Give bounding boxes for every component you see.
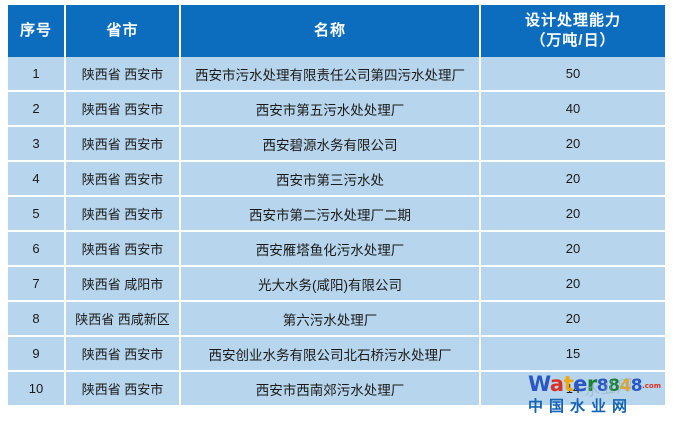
cell-region: 陕西省 西安市 <box>65 57 180 91</box>
cell-capacity: 20 <box>480 266 665 301</box>
cell-index: 6 <box>8 231 65 266</box>
table-header: 序号 省市 名称 设计处理能力 （万吨/日） <box>8 5 665 57</box>
cell-index: 5 <box>8 196 65 231</box>
column-header-capacity-line2: （万吨/日） <box>483 31 663 51</box>
cell-name: 第六污水处理厂 <box>180 301 480 336</box>
cell-index: 9 <box>8 336 65 371</box>
table-row: 8陕西省 西咸新区第六污水处理厂20 <box>8 301 665 336</box>
cell-name: 西安市第二污水处理厂二期 <box>180 196 480 231</box>
column-header-capacity-line1: 设计处理能力 <box>483 11 663 31</box>
cell-region: 陕西省 西安市 <box>65 371 180 405</box>
cell-index: 2 <box>8 91 65 126</box>
cell-region: 陕西省 咸阳市 <box>65 266 180 301</box>
cell-capacity: 20 <box>480 161 665 196</box>
table-row: 5陕西省 西安市西安市第二污水处理厂二期20 <box>8 196 665 231</box>
cell-index: 1 <box>8 57 65 91</box>
cell-capacity: 20 <box>480 231 665 266</box>
table-row: 4陕西省 西安市西安市第三污水处20 <box>8 161 665 196</box>
cell-region: 陕西省 西安市 <box>65 161 180 196</box>
cell-region: 陕西省 西安市 <box>65 196 180 231</box>
cell-name: 西安市第三污水处 <box>180 161 480 196</box>
cell-region: 陕西省 西安市 <box>65 231 180 266</box>
cell-capacity: 20 <box>480 301 665 336</box>
cell-name: 西安市第五污水处处理厂 <box>180 91 480 126</box>
cell-region: 陕西省 西安市 <box>65 91 180 126</box>
cell-index: 8 <box>8 301 65 336</box>
table-row: 9陕西省 西安市西安创业水务有限公司北石桥污水处理厂15 <box>8 336 665 371</box>
column-header-name: 名称 <box>180 5 480 57</box>
table-row: 1陕西省 西安市西安市污水处理有限责任公司第四污水处理厂50 <box>8 57 665 91</box>
cell-capacity: 15 <box>480 336 665 371</box>
cell-index: 3 <box>8 126 65 161</box>
table-row: 7陕西省 咸阳市光大水务(咸阳)有限公司20 <box>8 266 665 301</box>
cell-region: 陕西省 西咸新区 <box>65 301 180 336</box>
cell-name: 光大水务(咸阳)有限公司 <box>180 266 480 301</box>
cell-capacity: 50 <box>480 57 665 91</box>
cell-name: 西安创业水务有限公司北石桥污水处理厂 <box>180 336 480 371</box>
cell-index: 4 <box>8 161 65 196</box>
cell-name: 西安碧源水务有限公司 <box>180 126 480 161</box>
cell-index: 7 <box>8 266 65 301</box>
wastewater-plant-table: 序号 省市 名称 设计处理能力 （万吨/日） 1陕西省 西安市西安市污水处理有限… <box>8 5 665 405</box>
cell-name: 西安雁塔鱼化污水处理厂 <box>180 231 480 266</box>
cell-capacity: 40 <box>480 91 665 126</box>
cell-name: 西安市西南郊污水处理厂 <box>180 371 480 405</box>
cell-index: 10 <box>8 371 65 405</box>
cell-capacity: 20 <box>480 196 665 231</box>
column-header-capacity: 设计处理能力 （万吨/日） <box>480 5 665 57</box>
table-row: 2陕西省 西安市西安市第五污水处处理厂40 <box>8 91 665 126</box>
column-header-region: 省市 <box>65 5 180 57</box>
table-row: 3陕西省 西安市西安碧源水务有限公司20 <box>8 126 665 161</box>
header-row: 序号 省市 名称 设计处理能力 （万吨/日） <box>8 5 665 57</box>
cell-name: 西安市污水处理有限责任公司第四污水处理厂 <box>180 57 480 91</box>
cell-capacity: 20 <box>480 126 665 161</box>
cell-region: 陕西省 西安市 <box>65 126 180 161</box>
cell-capacity: 14 <box>480 371 665 405</box>
table-row: 6陕西省 西安市西安雁塔鱼化污水处理厂20 <box>8 231 665 266</box>
column-header-index: 序号 <box>8 5 65 57</box>
table-row: 10陕西省 西安市西安市西南郊污水处理厂14 <box>8 371 665 405</box>
table-body: 1陕西省 西安市西安市污水处理有限责任公司第四污水处理厂502陕西省 西安市西安… <box>8 57 665 405</box>
cell-region: 陕西省 西安市 <box>65 336 180 371</box>
table-container: 序号 省市 名称 设计处理能力 （万吨/日） 1陕西省 西安市西安市污水处理有限… <box>8 5 665 405</box>
